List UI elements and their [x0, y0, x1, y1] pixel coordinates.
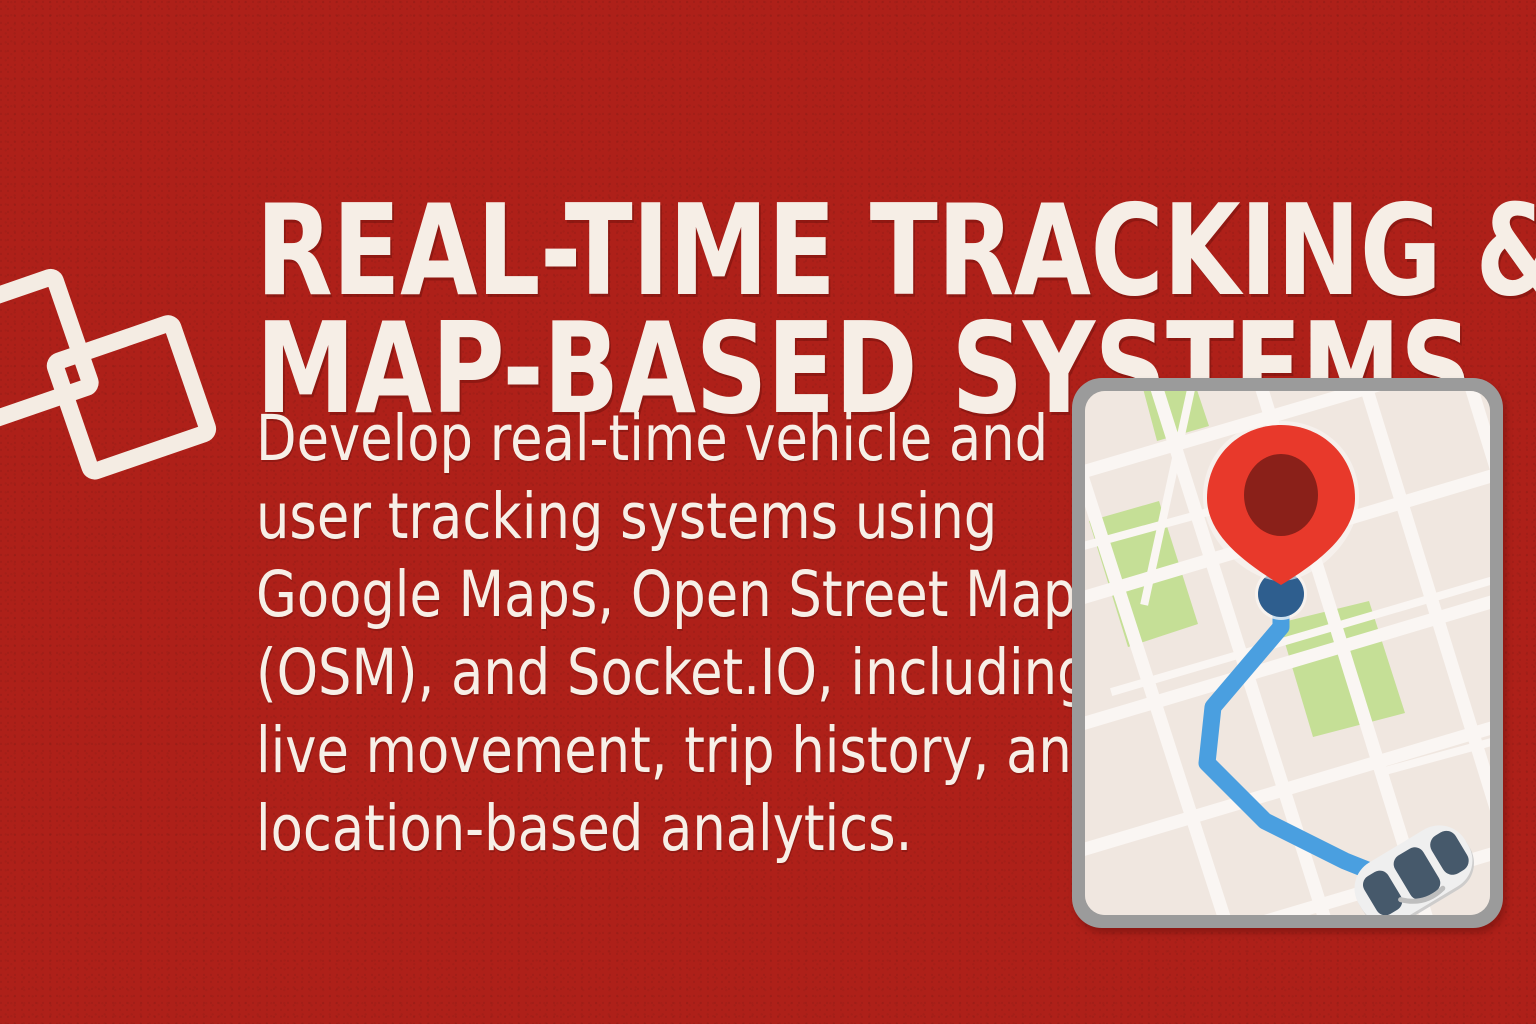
description-line-5: live movement, trip history, and — [256, 712, 1000, 790]
description-line-3: Google Maps, Open Street Maps — [256, 556, 1000, 634]
description-line-6: location-based analytics. — [256, 790, 1000, 868]
map-pin-hole — [1244, 454, 1318, 536]
description-line-4: (OSM), and Socket.IO, including — [256, 634, 1000, 712]
description-text: Develop real-time vehicle and user track… — [256, 400, 1000, 868]
page-title-line-1: REAL-TIME TRACKING & — [256, 192, 1250, 310]
map-viewport — [1085, 391, 1490, 915]
squares-icon — [0, 245, 230, 495]
description-line-1: Develop real-time vehicle and — [256, 400, 1000, 478]
decorative-squares-graphic — [0, 245, 230, 495]
slide-canvas: REAL-TIME TRACKING & MAP-BASED SYSTEMS D… — [0, 0, 1536, 1024]
map-illustration-card — [1072, 378, 1503, 928]
map-graphic — [1085, 391, 1490, 915]
description-line-2: user tracking systems using — [256, 478, 1000, 556]
